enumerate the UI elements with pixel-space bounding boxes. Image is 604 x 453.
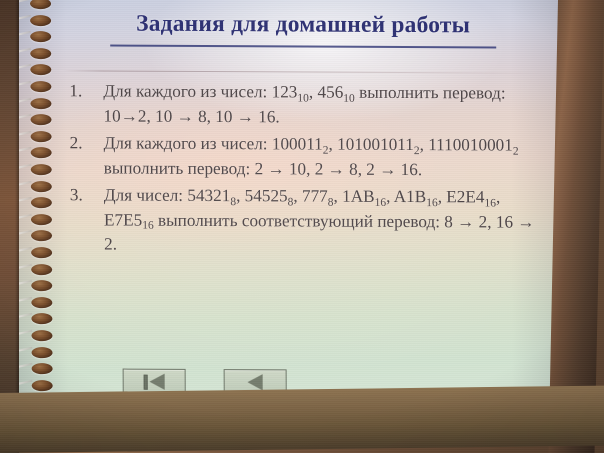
photographed-slide: Задания для домашней работы 1. Для каждо… xyxy=(0,0,604,453)
task-item: 3. Для чисел: 543218, 545258, 7778, 1AB1… xyxy=(54,184,554,257)
skip-to-start-icon xyxy=(144,374,165,390)
slide-content: Задания для домашней работы 1. Для каждо… xyxy=(17,0,567,423)
title-underline xyxy=(110,44,496,48)
task-text: Для каждого из чисел: 1000112, 101001011… xyxy=(104,132,554,180)
left-wall-strip xyxy=(0,0,19,453)
task-number: 2. xyxy=(54,132,104,154)
task-list: 1. Для каждого из чисел: 12310, 45610 вы… xyxy=(53,80,554,262)
presentation-slide: Задания для домашней работы 1. Для каждо… xyxy=(17,0,567,423)
task-number: 1. xyxy=(53,80,103,102)
bottom-wall-band xyxy=(0,386,604,453)
task-number: 3. xyxy=(54,184,104,206)
title-divider-rule xyxy=(63,70,547,74)
task-item: 1. Для каждого из чисел: 12310, 45610 вы… xyxy=(53,80,553,129)
slide-title: Задания для домашней работы xyxy=(63,10,543,40)
triangle-left-icon xyxy=(248,374,263,390)
task-text: Для чисел: 543218, 545258, 7778, 1AB16, … xyxy=(104,184,554,257)
task-item: 2. Для каждого из чисел: 1000112, 101001… xyxy=(54,132,554,181)
task-text: Для каждого из чисел: 12310, 45610 выпол… xyxy=(103,80,553,128)
